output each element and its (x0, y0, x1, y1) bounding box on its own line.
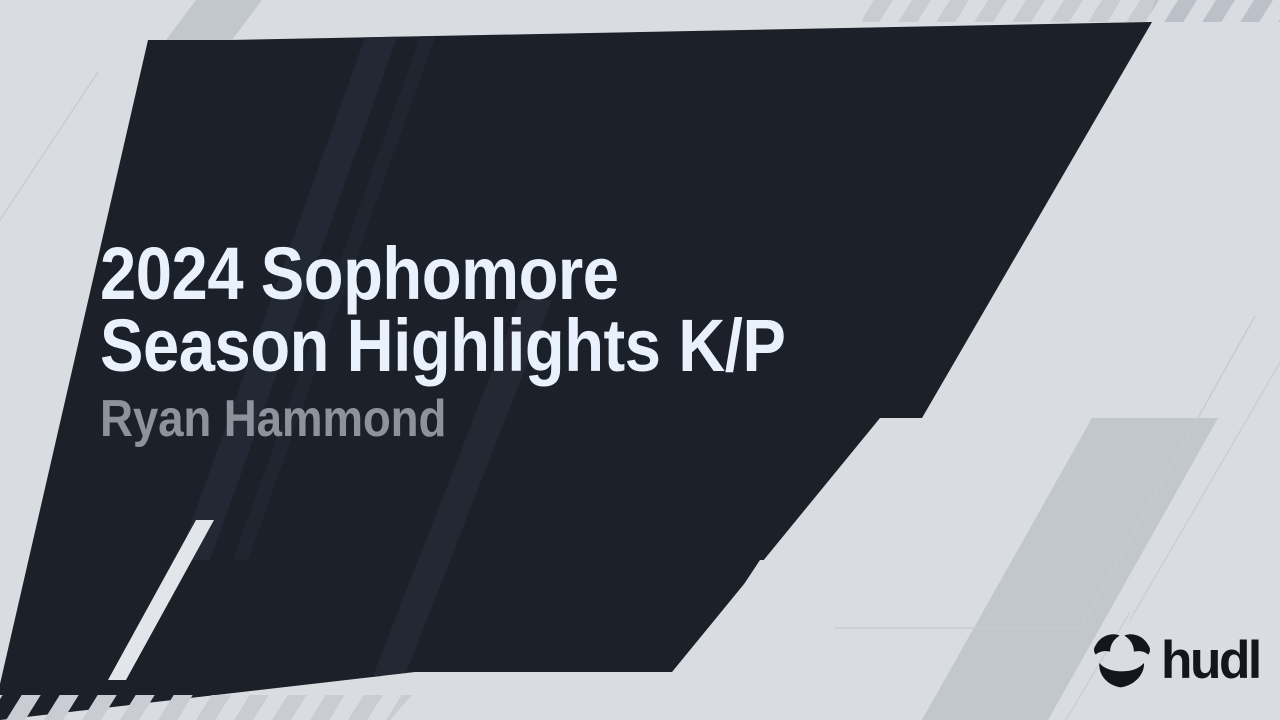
title-line-2: Season Highlights K/P (100, 310, 822, 382)
title-card: 2024 Sophomore Season Highlights K/P Rya… (0, 0, 1280, 720)
diagonal-hatch-top (862, 0, 1280, 22)
hudl-logo: hudl (1092, 632, 1263, 688)
title-line-1: 2024 Sophomore (100, 238, 822, 310)
title-text-block: 2024 Sophomore Season Highlights K/P Rya… (100, 238, 920, 450)
hudl-wordmark: hudl (1161, 634, 1260, 687)
hudl-shield-icon (1092, 632, 1152, 688)
diagonal-hatch-bottom (0, 695, 412, 720)
athlete-name: Ryan Hammond (100, 388, 822, 450)
